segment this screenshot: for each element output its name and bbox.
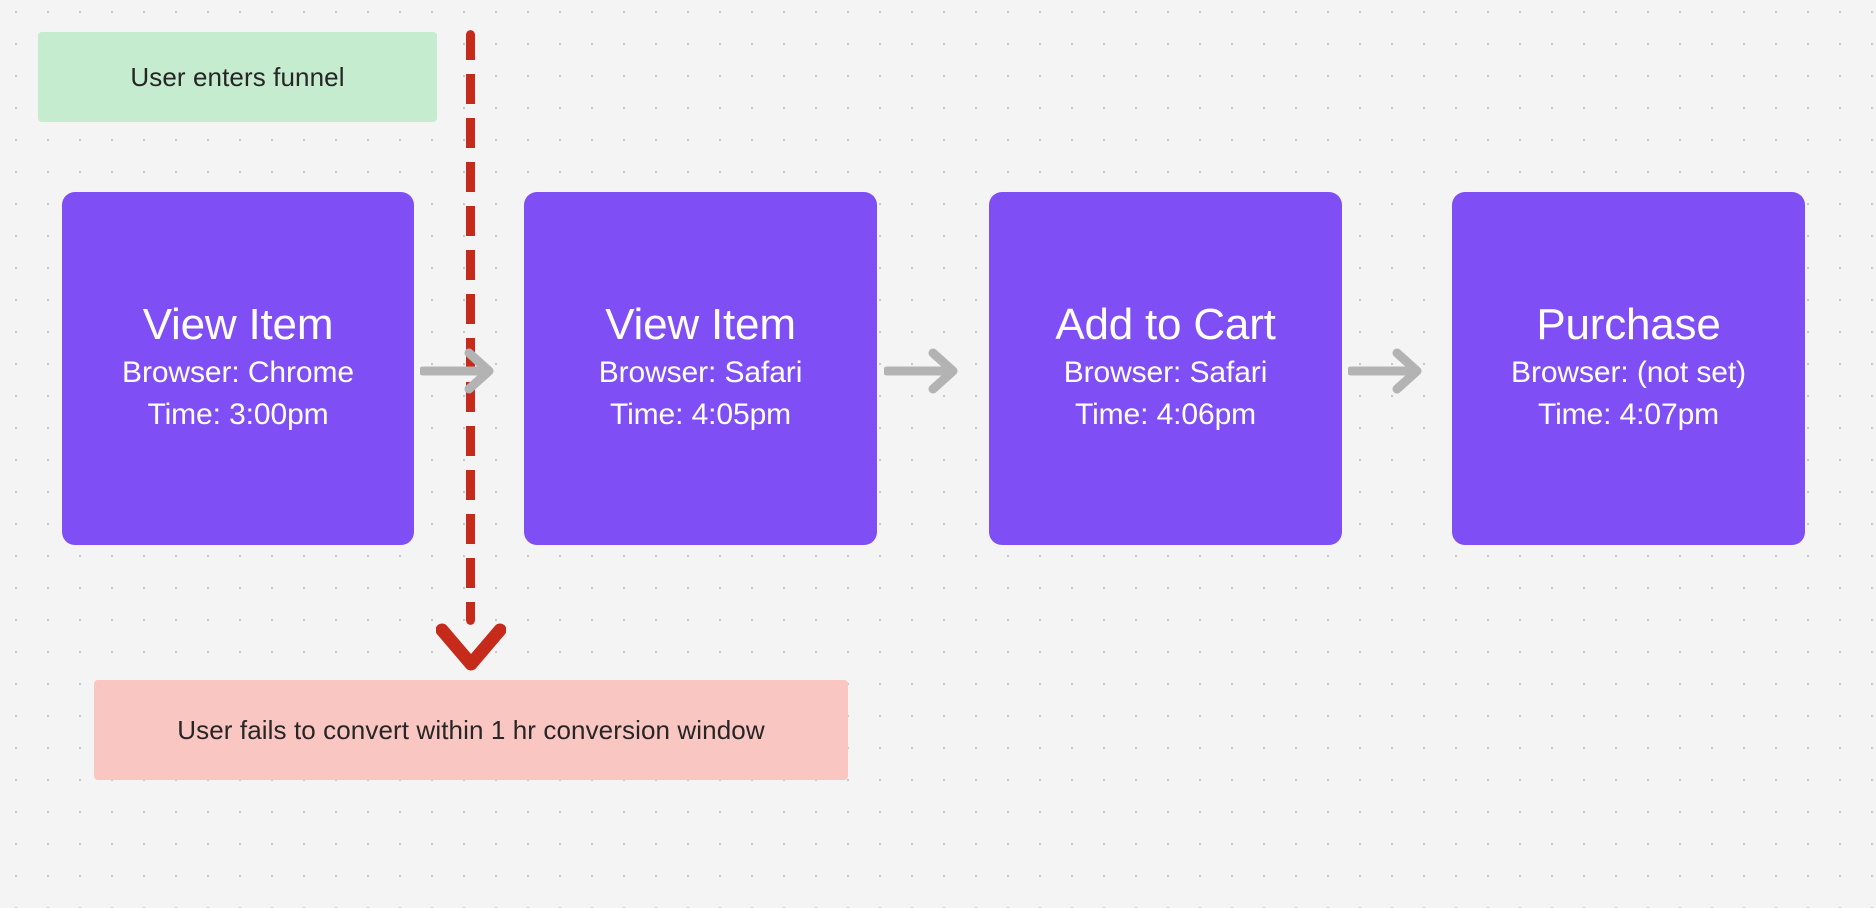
step-title: Purchase (1536, 300, 1720, 349)
flow-arrow-right-icon (420, 348, 500, 394)
step-time: Time: 4:07pm (1538, 394, 1719, 437)
annotation-user-enters-funnel: User enters funnel (38, 32, 437, 122)
step-title: Add to Cart (1055, 300, 1275, 349)
entry-note-label: User enters funnel (130, 62, 344, 93)
step-time: Time: 4:06pm (1075, 394, 1256, 437)
step-time: Time: 4:05pm (610, 394, 791, 437)
step-browser: Browser: Safari (599, 352, 803, 395)
step-title: View Item (143, 300, 334, 349)
fail-note-label: User fails to convert within 1 hr conver… (177, 715, 764, 746)
step-browser: Browser: Safari (1064, 352, 1268, 395)
flow-arrow-right-icon (1348, 348, 1428, 394)
conversion-window-boundary-line (466, 30, 475, 625)
funnel-step-card[interactable]: Purchase Browser: (not set) Time: 4:07pm (1452, 192, 1805, 545)
funnel-step-card[interactable]: View Item Browser: Chrome Time: 3:00pm (62, 192, 414, 545)
flow-arrow-right-icon (884, 348, 964, 394)
step-browser: Browser: (not set) (1511, 352, 1746, 395)
step-time: Time: 3:00pm (147, 394, 328, 437)
step-browser: Browser: Chrome (122, 352, 354, 395)
funnel-step-card[interactable]: Add to Cart Browser: Safari Time: 4:06pm (989, 192, 1342, 545)
conversion-window-arrowhead (436, 620, 506, 676)
funnel-step-card[interactable]: View Item Browser: Safari Time: 4:05pm (524, 192, 877, 545)
diagram-canvas: User enters funnel View Item Browser: Ch… (0, 0, 1876, 908)
step-title: View Item (605, 300, 796, 349)
annotation-conversion-failure: User fails to convert within 1 hr conver… (94, 680, 848, 780)
